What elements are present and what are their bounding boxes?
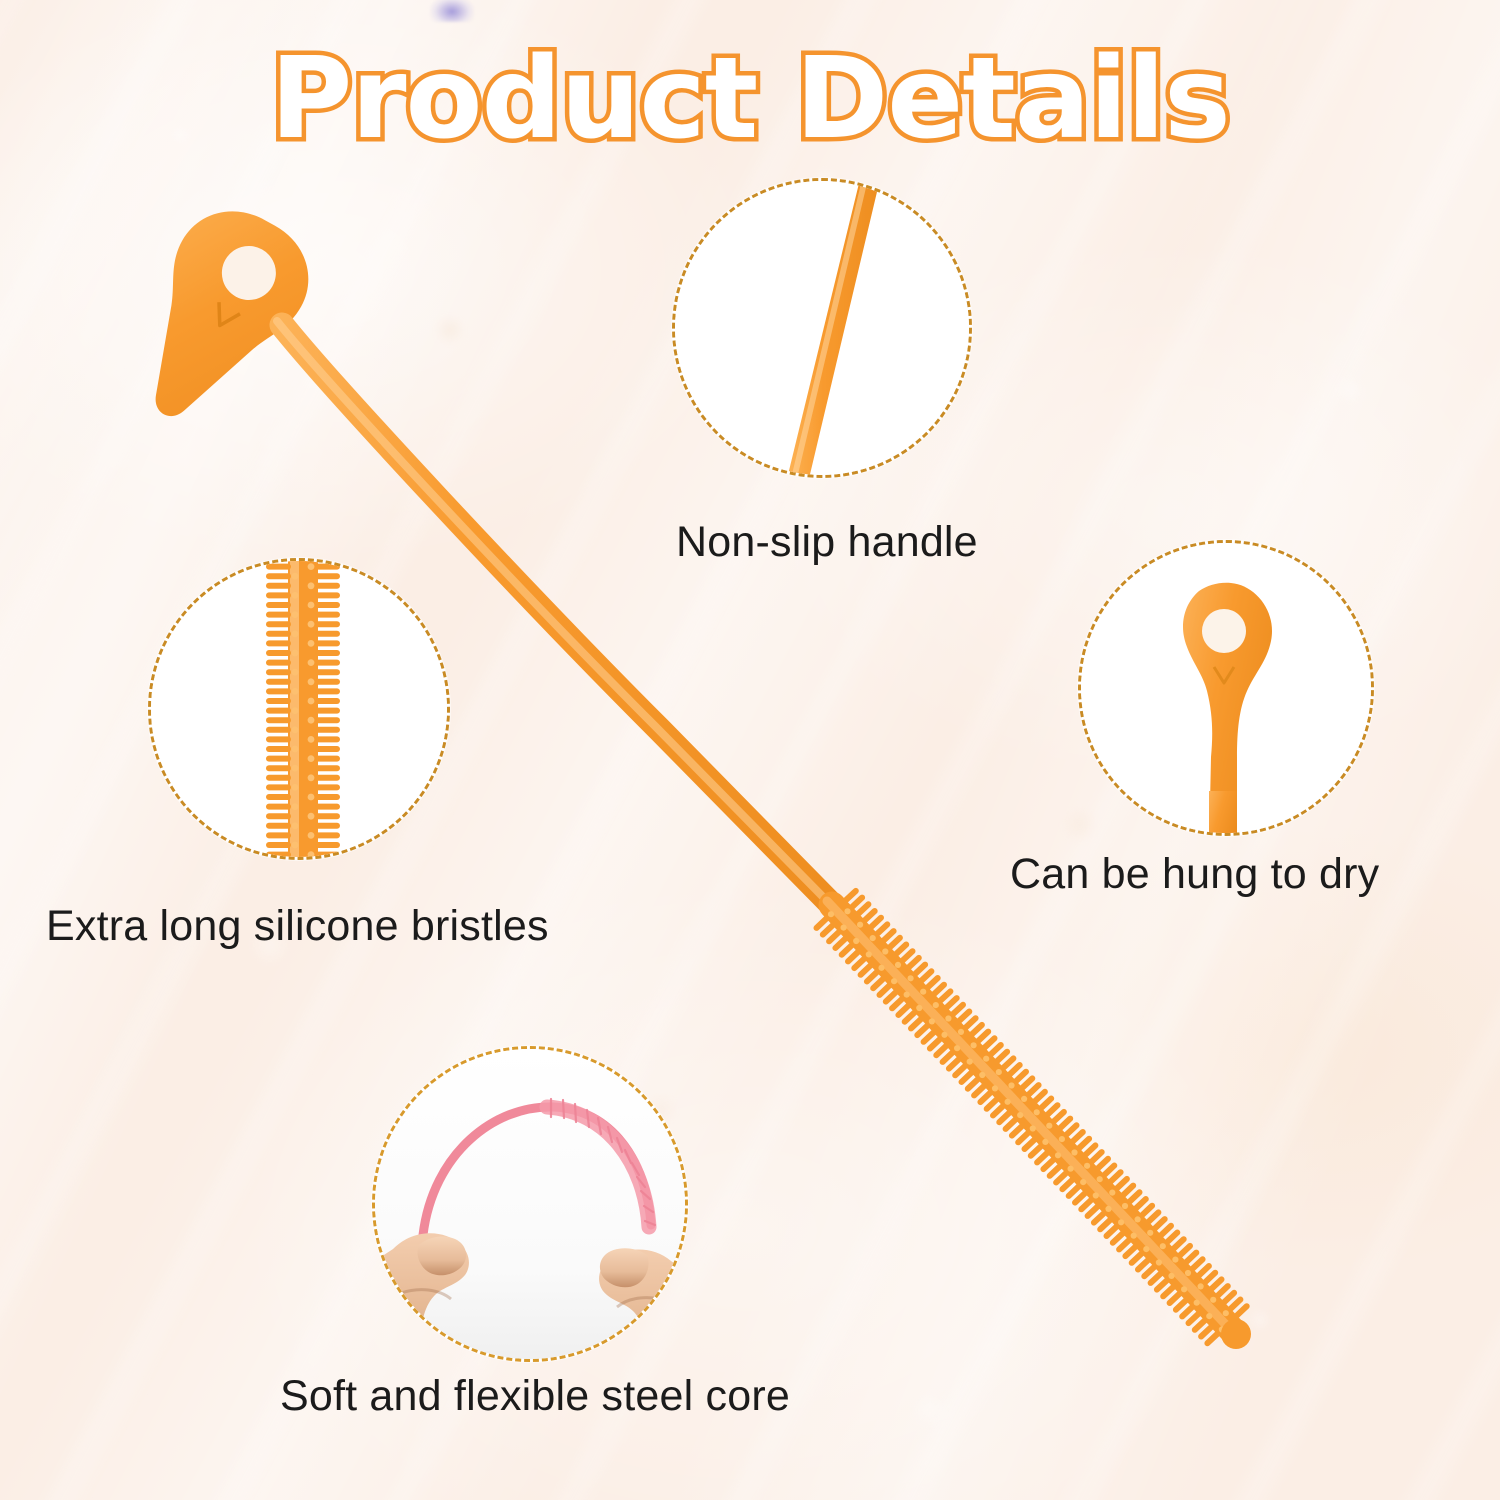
hanging-hole-detail-icon [1081,543,1374,836]
bristle-row-detail-icon [151,561,450,860]
hands-bending-brush-icon [375,1049,688,1362]
callout-circle-silicone-bristles [148,558,450,860]
callout-circle-non-slip-handle [672,178,972,478]
page-title: Product Details [0,34,1500,164]
handle-shaft-detail-icon [675,181,972,478]
callout-label-hung-to-dry: Can be hung to dry [1010,850,1379,899]
callout-label-non-slip-handle: Non-slip handle [676,518,978,567]
product-details-infographic: Product Details [0,0,1500,1500]
callout-circle-hung-to-dry [1078,540,1374,836]
callout-label-flexible-steel-core: Soft and flexible steel core [280,1372,790,1421]
background-speck [430,0,474,22]
callout-label-silicone-bristles: Extra long silicone bristles [46,902,549,951]
callout-circle-flexible-steel-core [372,1046,688,1362]
